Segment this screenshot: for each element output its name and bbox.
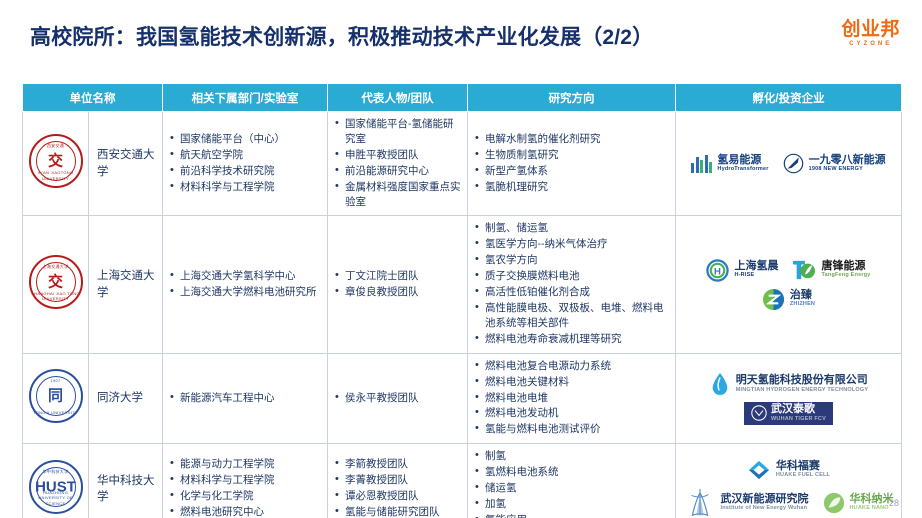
- seal-arc-bottom: SHANGHAI JIAO TONG UNIVERSITY: [31, 291, 81, 302]
- institutions-table: 单位名称 相关下属部门/实验室 代表人物/团队 研究方向 孵化/投资企业 西安交…: [22, 83, 902, 518]
- company-logo: 氢易能源HydroTransformer: [691, 155, 768, 173]
- brand-logo-cyzone: 创业邦 CYZONE: [841, 20, 900, 47]
- teams-list: 李箭教授团队李菁教授团队谭必恩教授团队氢能与储能研究团队: [334, 457, 461, 518]
- departments-cell: 能源与动力工程学院材料科学与工程学院化学与化工学院燃料电池研究中心: [163, 444, 328, 518]
- seal-arc-top: 华中科技大学: [31, 469, 81, 475]
- seal-arc-top: 西安交通: [31, 143, 81, 149]
- tiger-circle-icon: [751, 405, 767, 421]
- list-item: 高性能膜电极、双极板、电堆、燃料电池系统等相关部件: [474, 301, 669, 331]
- table-row: 1907同TONGJI UNIVERSITY同济大学新能源汽车工程中心侯永平教授…: [23, 353, 902, 444]
- list-item: 燃料电池寿命衰减机理等研究: [474, 332, 669, 347]
- table-body: 西安交通交XI'AN JIAOTONG UNIVERSITY西安交通大学国家储能…: [23, 112, 902, 518]
- list-item: 前沿科学技术研究院: [169, 164, 321, 179]
- departments-cell: 新能源汽车工程中心: [163, 353, 328, 444]
- company-name-en: TangFeng Energy: [821, 273, 870, 279]
- company-logo-text: 武汉新能源研究院Institute of New Energy Wuhan: [721, 494, 809, 512]
- table-header-row: 单位名称 相关下属部门/实验室 代表人物/团队 研究方向 孵化/投资企业: [23, 84, 902, 112]
- company-name-cn: 明天氢能科技股份有限公司: [736, 375, 869, 387]
- page-title: 高校院所：我国氢能技术创新源，积极推动技术产业化发展（2/2）: [30, 21, 653, 51]
- tangfeng-tf-icon: [792, 259, 816, 281]
- col-header-departments: 相关下属部门/实验室: [163, 84, 328, 112]
- seal-core: 同: [48, 389, 63, 404]
- list-item: 材料科学与工程学院: [169, 473, 321, 488]
- company-logo: 治臻ZHIZHEN: [762, 288, 815, 311]
- col-header-unit-name: 单位名称: [23, 84, 163, 112]
- list-item: 燃料电池研究中心: [169, 505, 321, 518]
- departments-cell: 国家储能平台（中心）航天航空学院前沿科学技术研究院材料科学与工程学院: [163, 112, 328, 216]
- company-logo-text: 治臻ZHIZHEN: [790, 290, 815, 308]
- list-item: 上海交通大学燃料电池研究所: [169, 285, 321, 300]
- university-name: 西安交通大学: [89, 112, 163, 216]
- incubated-companies-cell: 氢易能源HydroTransformer一九零八新能源1908 NEW ENER…: [676, 112, 902, 216]
- list-item: 新型产氢体系: [474, 164, 669, 179]
- list-item: 氢脆机理研究: [474, 180, 669, 195]
- seal-core: 交: [48, 154, 63, 169]
- seal-arc-bottom: HUAZHONG UNIVERSITY OF SCIENCE: [31, 490, 81, 507]
- company-logo: 武汉泰歌WUHAN TIGER FCV: [744, 402, 833, 424]
- university-seal-cell: 华中科技大学HUSTHUAZHONG UNIVERSITY OF SCIENCE: [23, 444, 89, 518]
- list-item: 氢能与储能研究团队: [334, 505, 461, 518]
- company-logo-text: 一九零八新能源1908 NEW ENERGY: [809, 155, 886, 173]
- company-logo: 华科纳米HUAKE NANO: [823, 492, 894, 514]
- list-item: 材料科学与工程学院: [169, 180, 321, 195]
- departments-list: 能源与动力工程学院材料科学与工程学院化学与化工学院燃料电池研究中心: [169, 457, 321, 518]
- seal-arc-bottom: TONGJI UNIVERSITY: [31, 410, 81, 416]
- list-item: 燃料电池复合电源动力系统: [474, 359, 669, 374]
- university-name: 华中科技大学: [89, 444, 163, 518]
- table-head: 单位名称 相关下属部门/实验室 代表人物/团队 研究方向 孵化/投资企业: [23, 84, 902, 112]
- company-name-en: MINGTIAN HYDROGEN ENERGY TECHNOLOGY: [736, 388, 869, 394]
- university-seal-icon: 上海交通大学交SHANGHAI JIAO TONG UNIVERSITY: [29, 255, 83, 309]
- company-logo: 唐锋能源TangFeng Energy: [792, 259, 870, 281]
- list-item: 制氢、储运氢: [474, 221, 669, 236]
- company-name-en: 1908 NEW ENERGY: [809, 167, 886, 173]
- company-name-cn: 一九零八新能源: [809, 155, 886, 167]
- directions-cell: 燃料电池复合电源动力系统燃料电池关键材料燃料电池电堆燃料电池发动机氢能与燃料电池…: [468, 353, 676, 444]
- seal-arc-top: 上海交通大学: [31, 264, 81, 270]
- list-item: 新能源汽车工程中心: [169, 391, 321, 406]
- list-item: 国家储能平台（中心）: [169, 132, 321, 147]
- teams-cell: 李箭教授团队李菁教授团队谭必恩教授团队氢能与储能研究团队: [328, 444, 468, 518]
- company-logo-group: H上海氢晨H-RISE唐锋能源TangFeng Energy治臻ZHIZHEN: [680, 259, 897, 311]
- col-header-directions: 研究方向: [468, 84, 676, 112]
- table-row: 上海交通大学交SHANGHAI JIAO TONG UNIVERSITY上海交通…: [23, 216, 902, 353]
- list-item: 生物质制氢研究: [474, 148, 669, 163]
- mingtian-droplet-icon: [709, 372, 731, 396]
- company-logo: 明天氢能科技股份有限公司MINGTIAN HYDROGEN ENERGY TEC…: [709, 372, 869, 396]
- company-logo-text: 唐锋能源TangFeng Energy: [821, 261, 870, 279]
- brand-name-cn: 创业邦: [841, 20, 900, 39]
- list-item: 燃料电池发动机: [474, 406, 669, 421]
- svg-text:H: H: [715, 266, 722, 277]
- company-logo-group: 氢易能源HydroTransformer一九零八新能源1908 NEW ENER…: [680, 153, 897, 174]
- company-logo-text: 华科纳米HUAKE NANO: [850, 494, 894, 512]
- company-name-en: Institute of New Energy Wuhan: [721, 506, 809, 512]
- list-item: 能源与动力工程学院: [169, 457, 321, 472]
- list-item: 燃料电池关键材料: [474, 375, 669, 390]
- huake-nano-leaf-icon: [823, 492, 845, 514]
- company-logo-text: 氢易能源HydroTransformer: [717, 155, 768, 173]
- company-logo: H上海氢晨H-RISE: [706, 259, 778, 282]
- rocket-circle-icon: [783, 153, 804, 174]
- list-item: 加氢: [474, 497, 669, 512]
- university-seal-icon: 1907同TONGJI UNIVERSITY: [29, 369, 83, 423]
- list-item: 丁文江院士团队: [334, 269, 461, 284]
- company-logo-group: 明天氢能科技股份有限公司MINGTIAN HYDROGEN ENERGY TEC…: [680, 372, 897, 424]
- company-name-cn: 华科纳米: [850, 494, 894, 506]
- list-item: 申胜平教授团队: [334, 148, 461, 163]
- company-logo: 武汉新能源研究院Institute of New Energy Wuhan: [684, 487, 809, 518]
- seal-core: 交: [48, 275, 63, 290]
- list-item: 李菁教授团队: [334, 473, 461, 488]
- brand-name-en: CYZONE: [841, 41, 900, 47]
- list-item: 化学与化工学院: [169, 489, 321, 504]
- wuhan-new-energy-institute-icon: [684, 487, 716, 518]
- company-logo-text: 上海氢晨H-RISE: [734, 261, 778, 279]
- company-logo-text: 明天氢能科技股份有限公司MINGTIAN HYDROGEN ENERGY TEC…: [736, 375, 869, 393]
- list-item: 制氢: [474, 449, 669, 464]
- seal-arc-bottom: XI'AN JIAOTONG UNIVERSITY: [31, 170, 81, 181]
- list-item: 侯永平教授团队: [334, 391, 461, 406]
- incubated-companies-cell: H上海氢晨H-RISE唐锋能源TangFeng Energy治臻ZHIZHEN: [676, 216, 902, 353]
- directions-list: 制氢氢燃料电池系统储运氢加氢氢能应用: [474, 449, 669, 518]
- col-header-teams: 代表人物/团队: [328, 84, 468, 112]
- company-name-cn: 氢易能源: [717, 155, 768, 167]
- teams-cell: 丁文江院士团队章俊良教授团队: [328, 216, 468, 353]
- hydrotransformer-bars-icon: [691, 155, 712, 173]
- teams-list: 侯永平教授团队: [334, 391, 461, 406]
- university-seal-cell: 上海交通大学交SHANGHAI JIAO TONG UNIVERSITY: [23, 216, 89, 353]
- slide-root: 高校院所：我国氢能技术创新源，积极推动技术产业化发展（2/2） 创业邦 CYZO…: [0, 0, 922, 518]
- table-row: 西安交通交XI'AN JIAOTONG UNIVERSITY西安交通大学国家储能…: [23, 112, 902, 216]
- seal-arc-top: 1907: [31, 378, 81, 384]
- company-name-cn: 武汉泰歌: [771, 404, 826, 416]
- list-item: 李箭教授团队: [334, 457, 461, 472]
- directions-list: 制氢、储运氢氢医学方向--纳米气体治疗氢农学方向质子交换膜燃料电池高活性低铂催化…: [474, 221, 669, 346]
- company-logo-group: 华科福赛HUAKE FUEL CELL武汉新能源研究院Institute of …: [680, 459, 897, 518]
- departments-list: 新能源汽车工程中心: [169, 391, 321, 406]
- company-name-cn: 治臻: [790, 290, 815, 302]
- list-item: 氢能应用: [474, 513, 669, 518]
- directions-cell: 制氢氢燃料电池系统储运氢加氢氢能应用: [468, 444, 676, 518]
- list-item: 氢燃料电池系统: [474, 465, 669, 480]
- company-name-cn: 武汉新能源研究院: [721, 494, 809, 506]
- list-item: 国家储能平台-氢储能研究室: [334, 117, 461, 147]
- university-name: 上海交通大学: [89, 216, 163, 353]
- page-number: 28: [889, 498, 899, 508]
- table-row: 华中科技大学HUSTHUAZHONG UNIVERSITY OF SCIENCE…: [23, 444, 902, 518]
- company-name-cn: 华科福赛: [776, 461, 830, 473]
- incubated-companies-cell: 明天氢能科技股份有限公司MINGTIAN HYDROGEN ENERGY TEC…: [676, 353, 902, 444]
- list-item: 金属材料强度国家重点实验室: [334, 180, 461, 210]
- company-name-en: HUAKE NANO: [850, 506, 894, 512]
- company-name-en: ZHIZHEN: [790, 302, 815, 308]
- list-item: 氢农学方向: [474, 253, 669, 268]
- company-logo: 华科福赛HUAKE FUEL CELL: [747, 459, 830, 481]
- company-logo-text: 华科福赛HUAKE FUEL CELL: [776, 461, 830, 479]
- teams-list: 丁文江院士团队章俊良教授团队: [334, 269, 461, 300]
- list-item: 高活性低铂催化剂合成: [474, 285, 669, 300]
- departments-list: 国家储能平台（中心）航天航空学院前沿科学技术研究院材料科学与工程学院: [169, 132, 321, 195]
- company-name-en: HydroTransformer: [717, 167, 768, 173]
- company-name-cn: 上海氢晨: [734, 261, 778, 273]
- h-rise-circle-icon: H: [706, 259, 729, 282]
- list-item: 航天航空学院: [169, 148, 321, 163]
- list-item: 氢能与燃料电池测试评价: [474, 422, 669, 437]
- list-item: 氢医学方向--纳米气体治疗: [474, 237, 669, 252]
- company-name-en: HUAKE FUEL CELL: [776, 473, 830, 479]
- list-item: 章俊良教授团队: [334, 285, 461, 300]
- teams-list: 国家储能平台-氢储能研究室申胜平教授团队前沿能源研究中心金属材料强度国家重点实验…: [334, 117, 461, 209]
- list-item: 储运氢: [474, 481, 669, 496]
- directions-list: 燃料电池复合电源动力系统燃料电池关键材料燃料电池电堆燃料电池发动机氢能与燃料电池…: [474, 359, 669, 438]
- list-item: 电解水制氢的催化剂研究: [474, 132, 669, 147]
- university-seal-cell: 西安交通交XI'AN JIAOTONG UNIVERSITY: [23, 112, 89, 216]
- list-item: 质子交换膜燃料电池: [474, 269, 669, 284]
- departments-cell: 上海交通大学氢科学中心上海交通大学燃料电池研究所: [163, 216, 328, 353]
- huake-fuelcell-cube-icon: [747, 459, 771, 481]
- company-logo: 一九零八新能源1908 NEW ENERGY: [783, 153, 886, 174]
- company-name-en: WUHAN TIGER FCV: [771, 417, 826, 423]
- col-header-incubated: 孵化/投资企业: [676, 84, 902, 112]
- directions-cell: 制氢、储运氢氢医学方向--纳米气体治疗氢农学方向质子交换膜燃料电池高活性低铂催化…: [468, 216, 676, 353]
- zhizhen-circle-icon: [762, 288, 785, 311]
- university-name: 同济大学: [89, 353, 163, 444]
- teams-cell: 国家储能平台-氢储能研究室申胜平教授团队前沿能源研究中心金属材料强度国家重点实验…: [328, 112, 468, 216]
- list-item: 上海交通大学氢科学中心: [169, 269, 321, 284]
- data-table-wrapper: 单位名称 相关下属部门/实验室 代表人物/团队 研究方向 孵化/投资企业 西安交…: [22, 83, 901, 518]
- directions-cell: 电解水制氢的催化剂研究生物质制氢研究新型产氢体系氢脆机理研究: [468, 112, 676, 216]
- teams-cell: 侯永平教授团队: [328, 353, 468, 444]
- company-name-cn: 唐锋能源: [821, 261, 870, 273]
- list-item: 前沿能源研究中心: [334, 164, 461, 179]
- list-item: 燃料电池电堆: [474, 391, 669, 406]
- company-logo-text: 武汉泰歌WUHAN TIGER FCV: [771, 404, 826, 422]
- incubated-companies-cell: 华科福赛HUAKE FUEL CELL武汉新能源研究院Institute of …: [676, 444, 902, 518]
- directions-list: 电解水制氢的催化剂研究生物质制氢研究新型产氢体系氢脆机理研究: [474, 132, 669, 195]
- company-name-en: H-RISE: [734, 273, 778, 279]
- departments-list: 上海交通大学氢科学中心上海交通大学燃料电池研究所: [169, 269, 321, 300]
- university-seal-cell: 1907同TONGJI UNIVERSITY: [23, 353, 89, 444]
- university-seal-icon: 华中科技大学HUSTHUAZHONG UNIVERSITY OF SCIENCE: [29, 460, 83, 514]
- list-item: 谭必恩教授团队: [334, 489, 461, 504]
- university-seal-icon: 西安交通交XI'AN JIAOTONG UNIVERSITY: [29, 134, 83, 188]
